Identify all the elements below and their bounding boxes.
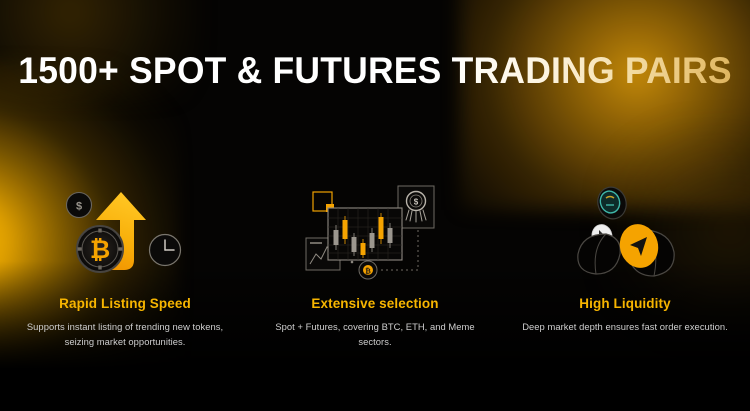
bitcoin-node-icon: ₿ [359, 261, 377, 279]
stacked-coins-icon [550, 178, 700, 288]
feature-title: Extensive selection [250, 296, 500, 312]
dollar-badge-card: $ [398, 186, 434, 228]
promo-banner: 1500+ SPOT & FUTURES TRADING PAIRS [0, 0, 750, 411]
svg-text:$: $ [76, 201, 82, 213]
feature-description: Spot + Futures, covering BTC, ETH, and M… [272, 320, 478, 350]
svg-text:$: $ [414, 198, 419, 207]
feature-extensive-selection: $ [250, 178, 500, 350]
extensive-selection-artwork: $ [250, 178, 500, 288]
rapid-listing-speed-artwork: $ ₿ [0, 178, 250, 288]
feature-list: $ ₿ [0, 178, 750, 350]
feature-rapid-listing-speed: $ ₿ [0, 178, 250, 350]
candlestick-chart-icon: $ [300, 178, 450, 288]
feature-description: Deep market depth ensures fast order exe… [522, 320, 728, 335]
clock-icon [150, 235, 181, 266]
banner-headline: 1500+ SPOT & FUTURES TRADING PAIRS [15, 52, 735, 89]
high-liquidity-artwork [500, 178, 750, 288]
bitcoin-coin-icon: ₿ [77, 226, 123, 272]
connector-dot [351, 261, 354, 264]
dollar-circle-icon: $ [67, 193, 92, 218]
upward-arrow-bitcoin-clock-icon: $ ₿ [50, 178, 200, 288]
feature-description: Supports instant listing of trending new… [22, 320, 228, 350]
feature-title: High Liquidity [500, 296, 750, 312]
feature-title: Rapid Listing Speed [0, 296, 250, 312]
svg-text:₿: ₿ [365, 268, 371, 276]
candlestick-chart-window [328, 208, 402, 260]
svg-text:₿: ₿ [90, 236, 110, 264]
feature-high-liquidity: High Liquidity Deep market depth ensures… [500, 178, 750, 350]
teal-coin-icon [594, 183, 631, 222]
left-sphere-outline [578, 234, 620, 274]
